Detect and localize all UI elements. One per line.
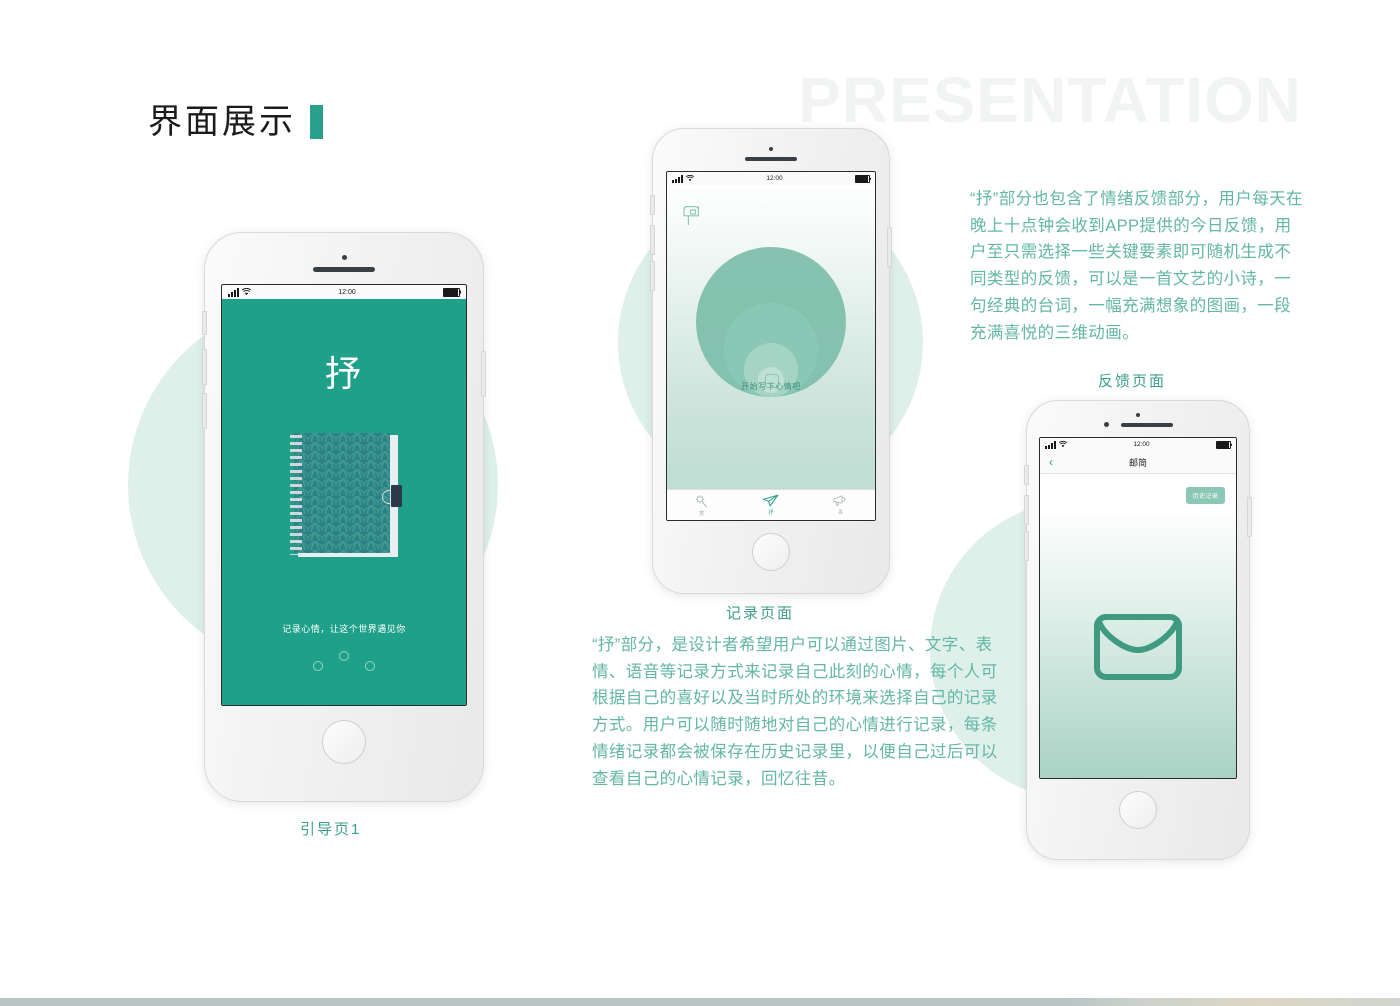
phone1-status-time: 12:00 bbox=[338, 289, 356, 296]
phone2-status-bar: 12:00 bbox=[667, 172, 875, 185]
phone1-earpiece-speaker bbox=[313, 267, 375, 272]
phone2-caption: 记录页面 bbox=[726, 602, 794, 623]
phone3-status-bar: 12:00 bbox=[1040, 438, 1236, 451]
phone-mockup-record: 12:00 bbox=[652, 128, 890, 594]
tab-appreciate-label: 赏 bbox=[699, 510, 704, 517]
pager-dot-2[interactable] bbox=[339, 651, 349, 661]
phone2-volume-up bbox=[650, 225, 655, 255]
phone1-status-bar: 12:00 bbox=[222, 285, 466, 299]
back-chevron-icon[interactable]: ‹ bbox=[1049, 456, 1053, 468]
app-logo-text: 抒 bbox=[325, 345, 363, 397]
battery-icon bbox=[855, 175, 870, 183]
notebook-spiral-binding bbox=[290, 435, 302, 555]
right-description-paragraph: “抒”部分也包含了情绪反馈部分，用户每天在晚上十点钟会收到APP提供的今日反馈，… bbox=[970, 186, 1306, 346]
record-hint-text: 开始写下心情吧 bbox=[667, 381, 875, 392]
phone-mockup-feedback: 12:00 ‹ 邮简 历史记录 bbox=[1026, 400, 1250, 860]
phone1-caption: 引导页1 bbox=[300, 818, 361, 839]
envelope-illustration bbox=[1040, 611, 1236, 683]
wifi-icon bbox=[242, 288, 251, 296]
pager-dot-1[interactable] bbox=[313, 661, 323, 671]
phone2-volume-down bbox=[650, 261, 655, 291]
tab-explore-label: 寻 bbox=[838, 509, 843, 516]
phone1-screen: 12:00 抒 记录心情，让这个世界遇见你 bbox=[221, 284, 467, 706]
phone1-volume-up bbox=[202, 349, 207, 385]
signal-bars-icon bbox=[1045, 441, 1056, 449]
phone2-power-button bbox=[887, 227, 892, 267]
phone1-splash-content: 抒 记录心情，让这个世界遇见你 bbox=[222, 299, 466, 705]
phone3-front-camera bbox=[1104, 422, 1109, 427]
phone3-home-button[interactable] bbox=[1119, 791, 1157, 829]
nav-title: 邮简 bbox=[1129, 456, 1147, 469]
onboarding-pager-dots[interactable] bbox=[313, 653, 375, 671]
phone1-home-button[interactable] bbox=[322, 720, 366, 764]
status-left-group bbox=[672, 175, 694, 183]
history-records-button[interactable]: 历史记录 bbox=[1186, 487, 1225, 504]
bottom-edge-strip bbox=[0, 998, 1400, 1006]
phone1-power-button bbox=[481, 351, 486, 397]
tab-express[interactable]: 抒 bbox=[736, 494, 805, 516]
signal-bars-icon bbox=[672, 175, 683, 183]
paper-plane-icon bbox=[762, 494, 779, 508]
phone2-home-button[interactable] bbox=[752, 533, 790, 571]
presentation-watermark: PRESENTATION bbox=[798, 68, 1302, 132]
signal-bars-icon bbox=[228, 288, 239, 297]
heading-accent-bar bbox=[310, 105, 323, 139]
binder-clip-body bbox=[391, 485, 402, 507]
bottom-description-paragraph: “抒”部分，是设计者希望用户可以通过图片、文字、表情、语音等记录方式来记录自己此… bbox=[592, 632, 1006, 792]
phone1-volume-down bbox=[202, 393, 207, 429]
phone3-mute-switch bbox=[1024, 465, 1029, 485]
phone3-screen: 12:00 ‹ 邮简 历史记录 bbox=[1039, 437, 1237, 779]
status-right-group bbox=[855, 175, 870, 183]
phone2-earpiece-speaker bbox=[745, 157, 797, 161]
phone2-mute-switch bbox=[650, 195, 655, 215]
phone3-front-camera-top bbox=[1136, 413, 1140, 417]
phone3-nav-bar: ‹ 邮简 bbox=[1040, 451, 1236, 474]
binder-clip-icon bbox=[382, 485, 402, 507]
tab-express-label: 抒 bbox=[768, 509, 773, 516]
status-left-group bbox=[1045, 441, 1067, 449]
status-left-group bbox=[228, 288, 251, 297]
battery-icon bbox=[443, 288, 460, 297]
status-right-group bbox=[1216, 441, 1231, 449]
phone2-record-content: 开始写下心情吧 赏 bbox=[667, 185, 875, 520]
magic-wand-icon bbox=[694, 494, 709, 509]
status-right-group bbox=[443, 288, 460, 297]
phone2-front-camera bbox=[769, 147, 773, 151]
battery-icon bbox=[1216, 441, 1231, 449]
phone1-mute-switch bbox=[202, 311, 207, 335]
section-heading: 界面展示 bbox=[148, 105, 323, 139]
phone3-top-hardware bbox=[1104, 422, 1173, 427]
phone3-volume-up bbox=[1024, 495, 1029, 525]
wifi-icon bbox=[686, 175, 694, 182]
phone3-caption: 反馈页面 bbox=[1098, 370, 1166, 391]
phone3-volume-down bbox=[1024, 531, 1029, 561]
tab-appreciate[interactable]: 赏 bbox=[667, 494, 736, 517]
envelope-icon bbox=[1092, 611, 1184, 683]
wifi-icon bbox=[1059, 441, 1067, 448]
pager-dot-3[interactable] bbox=[365, 661, 375, 671]
phone1-front-camera bbox=[342, 255, 347, 260]
phone-mockup-onboarding: 12:00 抒 记录心情，让这个世界遇见你 bbox=[204, 232, 484, 802]
phone3-power-button bbox=[1247, 497, 1252, 537]
phone3-status-time: 12:00 bbox=[1133, 441, 1149, 448]
phone2-screen: 12:00 bbox=[666, 171, 876, 521]
notebook-cover bbox=[294, 433, 390, 553]
phone3-feedback-content: ‹ 邮简 历史记录 bbox=[1040, 451, 1236, 778]
phone2-status-time: 12:00 bbox=[766, 175, 782, 182]
tab-explore[interactable]: 寻 bbox=[806, 494, 875, 516]
notebook-illustration bbox=[290, 433, 398, 559]
phone3-earpiece-speaker bbox=[1121, 423, 1173, 427]
mailbox-icon[interactable] bbox=[681, 203, 703, 232]
page-title: 界面展示 bbox=[148, 105, 296, 139]
megaphone-icon bbox=[832, 494, 849, 508]
splash-tagline: 记录心情，让这个世界遇见你 bbox=[282, 622, 406, 635]
phone2-tab-bar: 赏 抒 寻 bbox=[667, 489, 875, 520]
